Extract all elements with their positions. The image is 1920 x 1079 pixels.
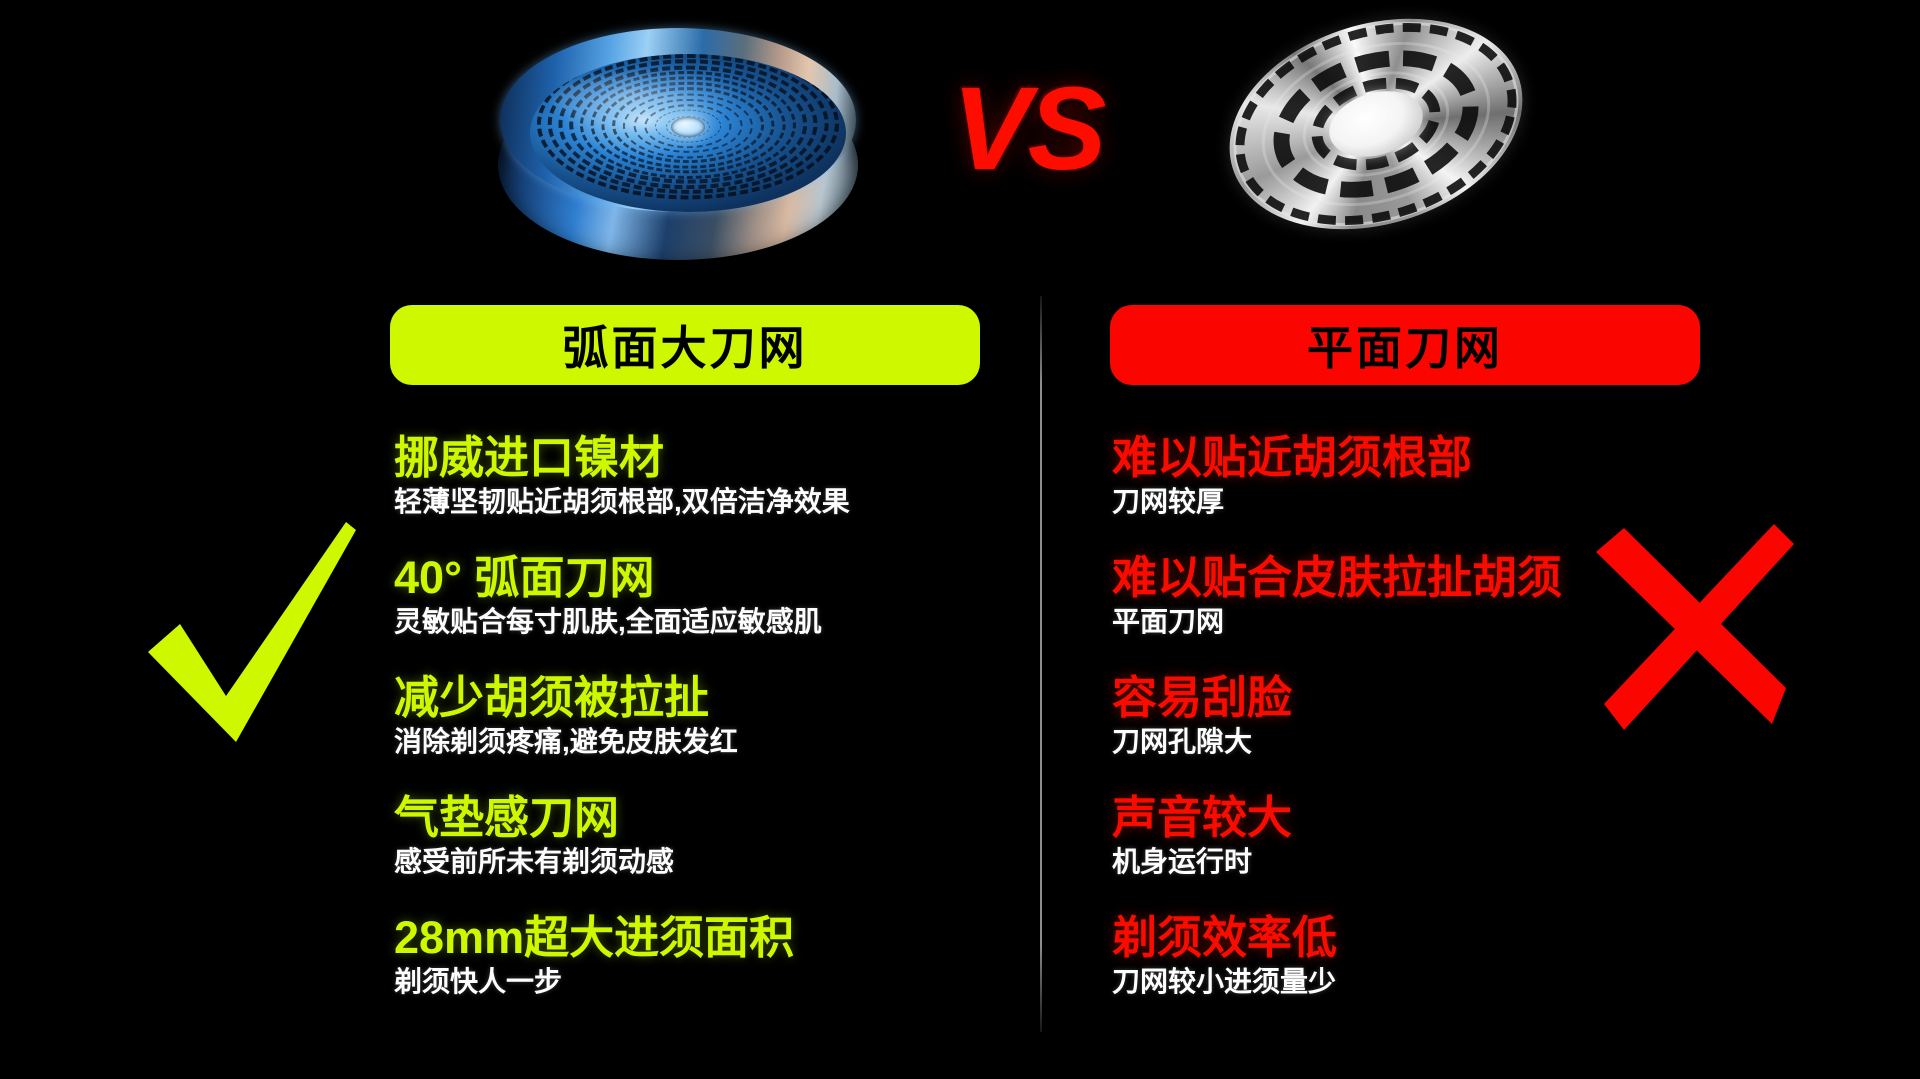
feature-subtitle: 刀网较厚 <box>1112 485 1732 518</box>
cross-icon <box>1590 518 1800 738</box>
feature-title: 气垫感刀网 <box>394 794 1014 843</box>
feature-title: 40° 弧面刀网 <box>394 554 1014 603</box>
silver-foil-disc <box>1203 0 1548 263</box>
flat-shaver-foil-silver-icon <box>1226 24 1526 234</box>
feature-title: 剃须效率低 <box>1112 914 1732 963</box>
feature-subtitle: 感受前所未有剃须动感 <box>394 845 1014 878</box>
feature-item: 28mm超大进须面积剃须快人一步 <box>394 914 1014 1034</box>
feature-subtitle: 剃须快人一步 <box>394 965 1014 998</box>
feature-title: 减少胡须被拉扯 <box>394 674 1014 723</box>
feature-subtitle: 消除剃须疼痛,避免皮肤发红 <box>394 725 1014 758</box>
blue-head-rim <box>500 28 856 212</box>
comparison-infographic: VS 弧面大刀网 平面刀网 挪威进口镍材轻薄坚韧贴近胡须根部,双倍洁净效果40°… <box>0 0 1920 1079</box>
feature-title: 难以贴近胡须根部 <box>1112 434 1732 483</box>
feature-item: 剃须效率低刀网较小进须量少 <box>1112 914 1732 1034</box>
feature-subtitle: 机身运行时 <box>1112 845 1732 878</box>
vs-label: VS <box>952 70 1103 188</box>
feature-item: 声音较大机身运行时 <box>1112 794 1732 914</box>
blue-head-mesh-surface <box>530 54 846 212</box>
right-column-header: 平面刀网 <box>1110 305 1700 385</box>
feature-subtitle: 轻薄坚韧贴近胡须根部,双倍洁净效果 <box>394 485 1014 518</box>
feature-item: 40° 弧面刀网灵敏贴合每寸肌肤,全面适应敏感肌 <box>394 554 1014 674</box>
feature-subtitle: 刀网较小进须量少 <box>1112 965 1732 998</box>
left-column-header: 弧面大刀网 <box>390 305 980 385</box>
feature-title: 挪威进口镍材 <box>394 434 1014 483</box>
feature-title: 声音较大 <box>1112 794 1732 843</box>
feature-item: 挪威进口镍材轻薄坚韧贴近胡须根部,双倍洁净效果 <box>394 434 1014 554</box>
blue-head-highlight <box>554 72 744 132</box>
curved-shaver-head-blue-icon <box>490 14 870 264</box>
column-divider <box>1040 296 1042 1032</box>
feature-title: 28mm超大进须面积 <box>394 914 1014 963</box>
check-icon <box>140 520 360 750</box>
feature-subtitle: 灵敏贴合每寸肌肤,全面适应敏感肌 <box>394 605 1014 638</box>
left-feature-list: 挪威进口镍材轻薄坚韧贴近胡须根部,双倍洁净效果40° 弧面刀网灵敏贴合每寸肌肤,… <box>394 434 1014 1034</box>
feature-item: 气垫感刀网感受前所未有剃须动感 <box>394 794 1014 914</box>
feature-item: 减少胡须被拉扯消除剃须疼痛,避免皮肤发红 <box>394 674 1014 794</box>
